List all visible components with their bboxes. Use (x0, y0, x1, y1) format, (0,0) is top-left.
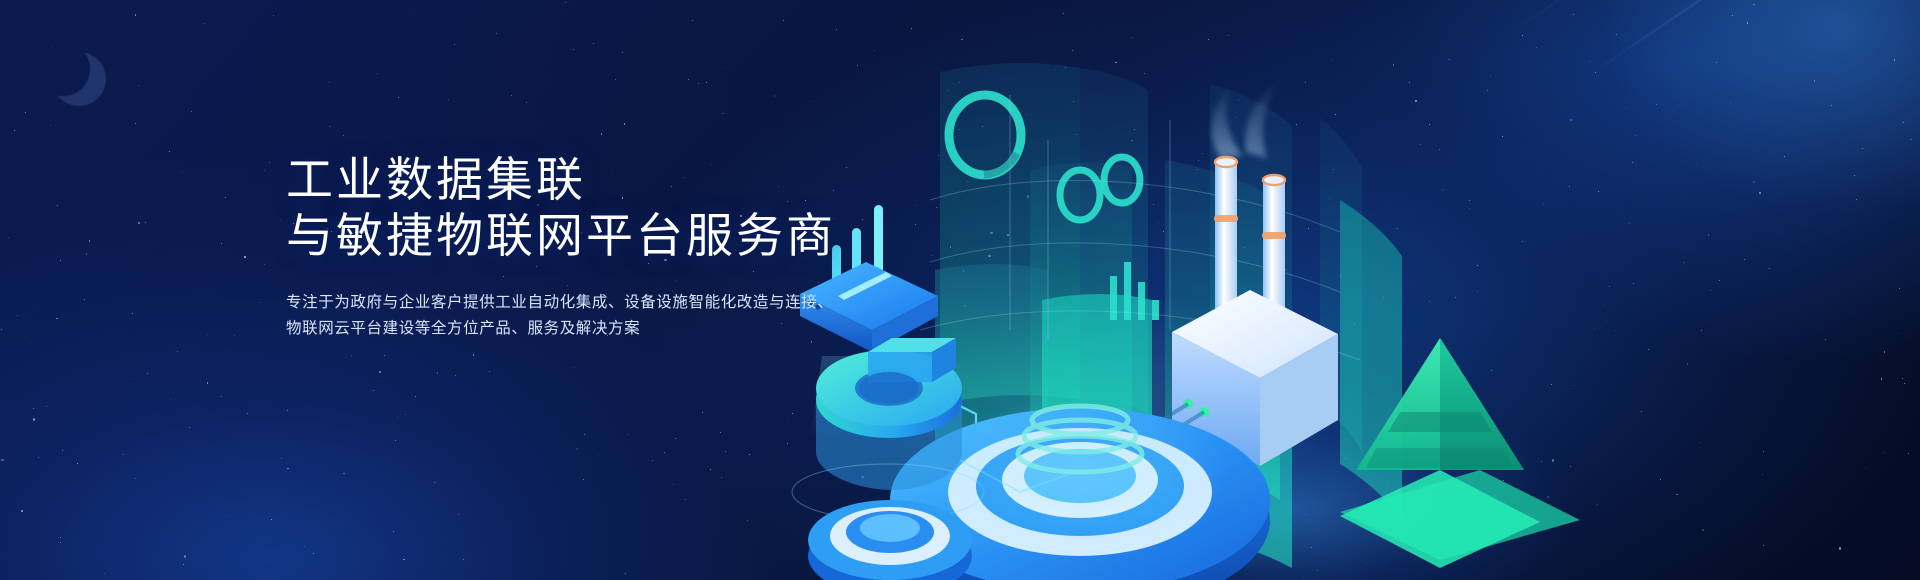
star (675, 438, 676, 439)
star (598, 455, 599, 456)
star (84, 299, 85, 300)
star (624, 123, 626, 125)
star (138, 85, 139, 86)
star (62, 450, 63, 451)
star (601, 133, 603, 135)
star (458, 514, 459, 515)
star (207, 335, 208, 336)
star (135, 14, 137, 16)
star (615, 79, 616, 80)
star (221, 396, 222, 397)
star (269, 162, 270, 163)
star (664, 452, 665, 453)
star (247, 413, 248, 414)
star (271, 519, 272, 520)
star (280, 220, 281, 221)
star (722, 113, 724, 115)
star (627, 434, 628, 435)
star (377, 73, 378, 74)
star (177, 351, 179, 353)
star (25, 112, 26, 113)
star (60, 542, 62, 544)
star (496, 33, 497, 34)
star (147, 373, 148, 374)
hero-copy: 工业数据集联 与敏捷物联网平台服务商 专注于为政府与企业客户提供工业自动化集成、… (286, 152, 906, 342)
star (405, 414, 406, 415)
star (123, 454, 124, 455)
star (576, 448, 578, 450)
star (89, 240, 91, 242)
headline-line-2: 与敏捷物联网平台服务商 (286, 208, 906, 264)
star (104, 573, 105, 574)
star (373, 390, 374, 391)
star (304, 546, 305, 547)
star (52, 46, 53, 47)
bottom-left-glow (0, 300, 720, 580)
star (264, 264, 265, 265)
star (226, 351, 227, 352)
star (287, 410, 288, 411)
star (14, 130, 15, 131)
star (191, 111, 192, 112)
star (710, 469, 711, 470)
star (574, 367, 575, 368)
star (260, 302, 261, 303)
star (8, 237, 9, 238)
subtitle-line-2: 物联网云平台建设等全方位产品、服务及解决方案 (286, 316, 906, 342)
star (189, 427, 190, 428)
star (720, 432, 721, 433)
star (413, 9, 414, 10)
star (226, 515, 227, 516)
star (448, 99, 449, 100)
star (381, 381, 382, 382)
star (584, 434, 585, 435)
star (688, 79, 689, 80)
crescent-moon-icon (36, 42, 90, 96)
star (138, 222, 140, 224)
star (17, 315, 18, 316)
sensor-disk (808, 500, 972, 580)
star (273, 15, 274, 16)
star (207, 382, 209, 384)
star (725, 451, 726, 452)
star (774, 95, 776, 97)
star (463, 559, 464, 560)
star (652, 460, 653, 461)
star (33, 418, 35, 420)
star (685, 499, 686, 500)
star (264, 170, 266, 172)
star (204, 23, 205, 24)
subtitle-line-1: 专注于为政府与企业客户提供工业自动化集成、设备设施智能化改造与连接、 (286, 290, 906, 316)
star (698, 83, 699, 84)
star (706, 82, 707, 83)
star (182, 171, 183, 172)
star (25, 337, 26, 338)
star (403, 559, 405, 561)
star (170, 399, 171, 400)
star (395, 440, 396, 441)
star (747, 520, 748, 521)
star (725, 67, 726, 68)
star (454, 44, 455, 45)
headline-line-1: 工业数据集联 (286, 152, 906, 208)
subtitle-block: 专注于为政府与企业客户提供工业自动化集成、设备设施智能化改造与连接、 物联网云平… (286, 290, 906, 342)
star (526, 102, 527, 103)
star (379, 371, 381, 373)
star (135, 478, 136, 479)
star (56, 318, 58, 320)
star (50, 125, 51, 126)
hero-banner: 工业数据集联 与敏捷物联网平台服务商 专注于为政府与企业客户提供工业自动化集成、… (0, 0, 1920, 580)
star (77, 463, 78, 464)
star (60, 260, 61, 261)
star (622, 52, 623, 53)
star (489, 371, 490, 372)
star (234, 335, 235, 336)
star (473, 354, 475, 356)
star (384, 355, 385, 356)
star (397, 417, 398, 418)
star (145, 222, 146, 223)
star (184, 555, 186, 557)
star (351, 355, 352, 356)
star (565, 2, 566, 3)
star (511, 95, 512, 96)
star (225, 197, 226, 198)
star (1, 329, 2, 330)
star (221, 243, 222, 244)
star (234, 548, 235, 549)
star (38, 457, 39, 458)
star (593, 43, 594, 44)
star (437, 372, 439, 374)
star (749, 454, 750, 455)
star (329, 82, 331, 84)
star (183, 564, 184, 565)
star (573, 49, 574, 50)
star (46, 406, 47, 407)
star (281, 458, 282, 459)
star (244, 256, 246, 258)
star (60, 537, 61, 538)
star (21, 510, 23, 512)
star (393, 531, 395, 533)
star (33, 408, 34, 409)
star (132, 313, 133, 314)
star (702, 412, 703, 413)
star (343, 473, 345, 475)
star (135, 123, 136, 124)
star (130, 378, 131, 379)
star (343, 135, 344, 136)
star (434, 482, 435, 483)
star (625, 573, 626, 574)
star (313, 553, 314, 554)
star (583, 479, 584, 480)
star (57, 205, 58, 206)
star (692, 20, 693, 21)
star (455, 375, 456, 376)
star (1, 459, 3, 461)
star (415, 396, 416, 397)
star (721, 477, 722, 478)
star (398, 97, 399, 98)
hero-illustration (780, 0, 1920, 580)
star (169, 151, 170, 152)
star (86, 253, 88, 255)
star (673, 484, 674, 485)
star (329, 126, 331, 128)
star (287, 468, 289, 470)
